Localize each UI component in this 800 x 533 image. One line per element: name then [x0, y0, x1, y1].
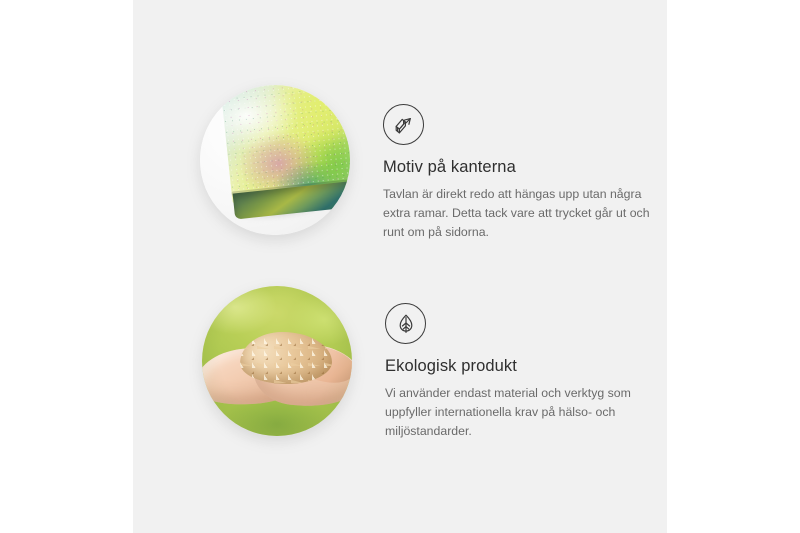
- feature-description-1: Tavlan är direkt redo att hängas upp uta…: [383, 185, 651, 242]
- canvas-print-corner-photo: [200, 85, 350, 235]
- photo-vignette: [202, 286, 352, 436]
- feature-text-column-2: Ekologisk produkt Vi använder endast mat…: [385, 286, 685, 441]
- feature-text-column-1: Motiv på kanterna Tavlan är direkt redo …: [383, 85, 683, 242]
- feature-image-wrapper-2: [202, 286, 352, 436]
- leaf-icon: [385, 303, 426, 344]
- feature-title-2: Ekologisk produkt: [385, 357, 685, 377]
- hands-holding-wood-chips-photo: [202, 286, 352, 436]
- feature-image-wrapper-1: [200, 85, 350, 235]
- canvas-wrap-edge-icon: [383, 104, 424, 145]
- feature-title-1: Motiv på kanterna: [383, 158, 683, 178]
- feature-description-2: Vi använder endast material och verktyg …: [385, 384, 657, 441]
- content-panel: Motiv på kanterna Tavlan är direkt redo …: [133, 0, 667, 533]
- product-feature-page: Motiv på kanterna Tavlan är direkt redo …: [0, 0, 800, 533]
- feature-block-ekologisk-produkt: Ekologisk produkt Vi använder endast mat…: [202, 286, 685, 441]
- canvas-board: [221, 85, 350, 235]
- feature-block-motiv-pa-kanterna: Motiv på kanterna Tavlan är direkt redo …: [200, 85, 683, 242]
